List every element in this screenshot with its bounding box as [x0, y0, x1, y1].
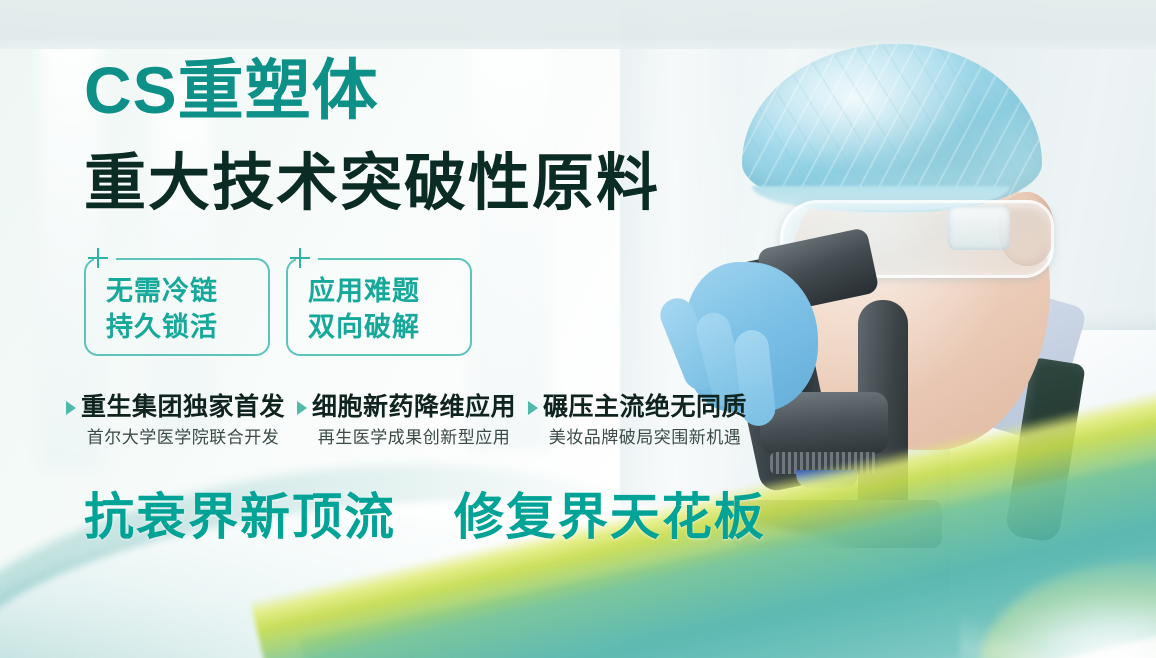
- promotional-banner: CS重塑体 重大技术突破性原料 无需冷链 持久锁活 应用难题 双向破解 重生集团…: [0, 0, 1156, 658]
- bullet-headline: 细胞新药降维应用: [312, 392, 516, 422]
- feature-box-line-2: 双向破解: [308, 309, 470, 345]
- feature-box-line-2: 持久锁活: [106, 309, 268, 345]
- triangle-right-icon: [66, 401, 76, 415]
- brand-title: CS重塑体: [84, 57, 379, 123]
- feature-box: 无需冷链 持久锁活: [84, 258, 270, 356]
- bullet-item: 重生集团独家首发 首尔大学医学院联合开发: [66, 392, 285, 448]
- triangle-right-icon: [297, 401, 307, 415]
- feature-box-line-1: 应用难题: [308, 273, 470, 309]
- bullet-subtext: 再生医学成果创新型应用: [312, 427, 516, 448]
- plus-icon: [88, 248, 108, 268]
- bullet-group: 重生集团独家首发 首尔大学医学院联合开发 细胞新药降维应用 再生医学成果创新型应…: [66, 392, 759, 448]
- bottom-tagline: 抗衰界新顶流 修复界天花板: [84, 487, 766, 547]
- triangle-right-icon: [528, 401, 538, 415]
- bullet-item: 细胞新药降维应用 再生医学成果创新型应用: [297, 392, 516, 448]
- banner-content: CS重塑体 重大技术突破性原料 无需冷链 持久锁活 应用难题 双向破解 重生集团…: [0, 0, 1156, 658]
- plus-icon: [290, 248, 310, 268]
- bullet-subtext: 美妆品牌破局突围新机遇: [543, 427, 747, 448]
- feature-box-group: 无需冷链 持久锁活 应用难题 双向破解: [84, 258, 472, 356]
- headline: 重大技术突破性原料: [84, 153, 660, 215]
- bullet-item: 碾压主流绝无同质 美妆品牌破局突围新机遇: [528, 392, 747, 448]
- bullet-headline: 碾压主流绝无同质: [543, 392, 747, 422]
- bullet-headline: 重生集团独家首发: [81, 392, 285, 422]
- tagline-left: 抗衰界新顶流: [84, 489, 396, 545]
- tagline-right: 修复界天花板: [454, 489, 766, 545]
- bullet-subtext: 首尔大学医学院联合开发: [81, 427, 285, 448]
- feature-box: 应用难题 双向破解: [286, 258, 472, 356]
- feature-box-line-1: 无需冷链: [106, 273, 268, 309]
